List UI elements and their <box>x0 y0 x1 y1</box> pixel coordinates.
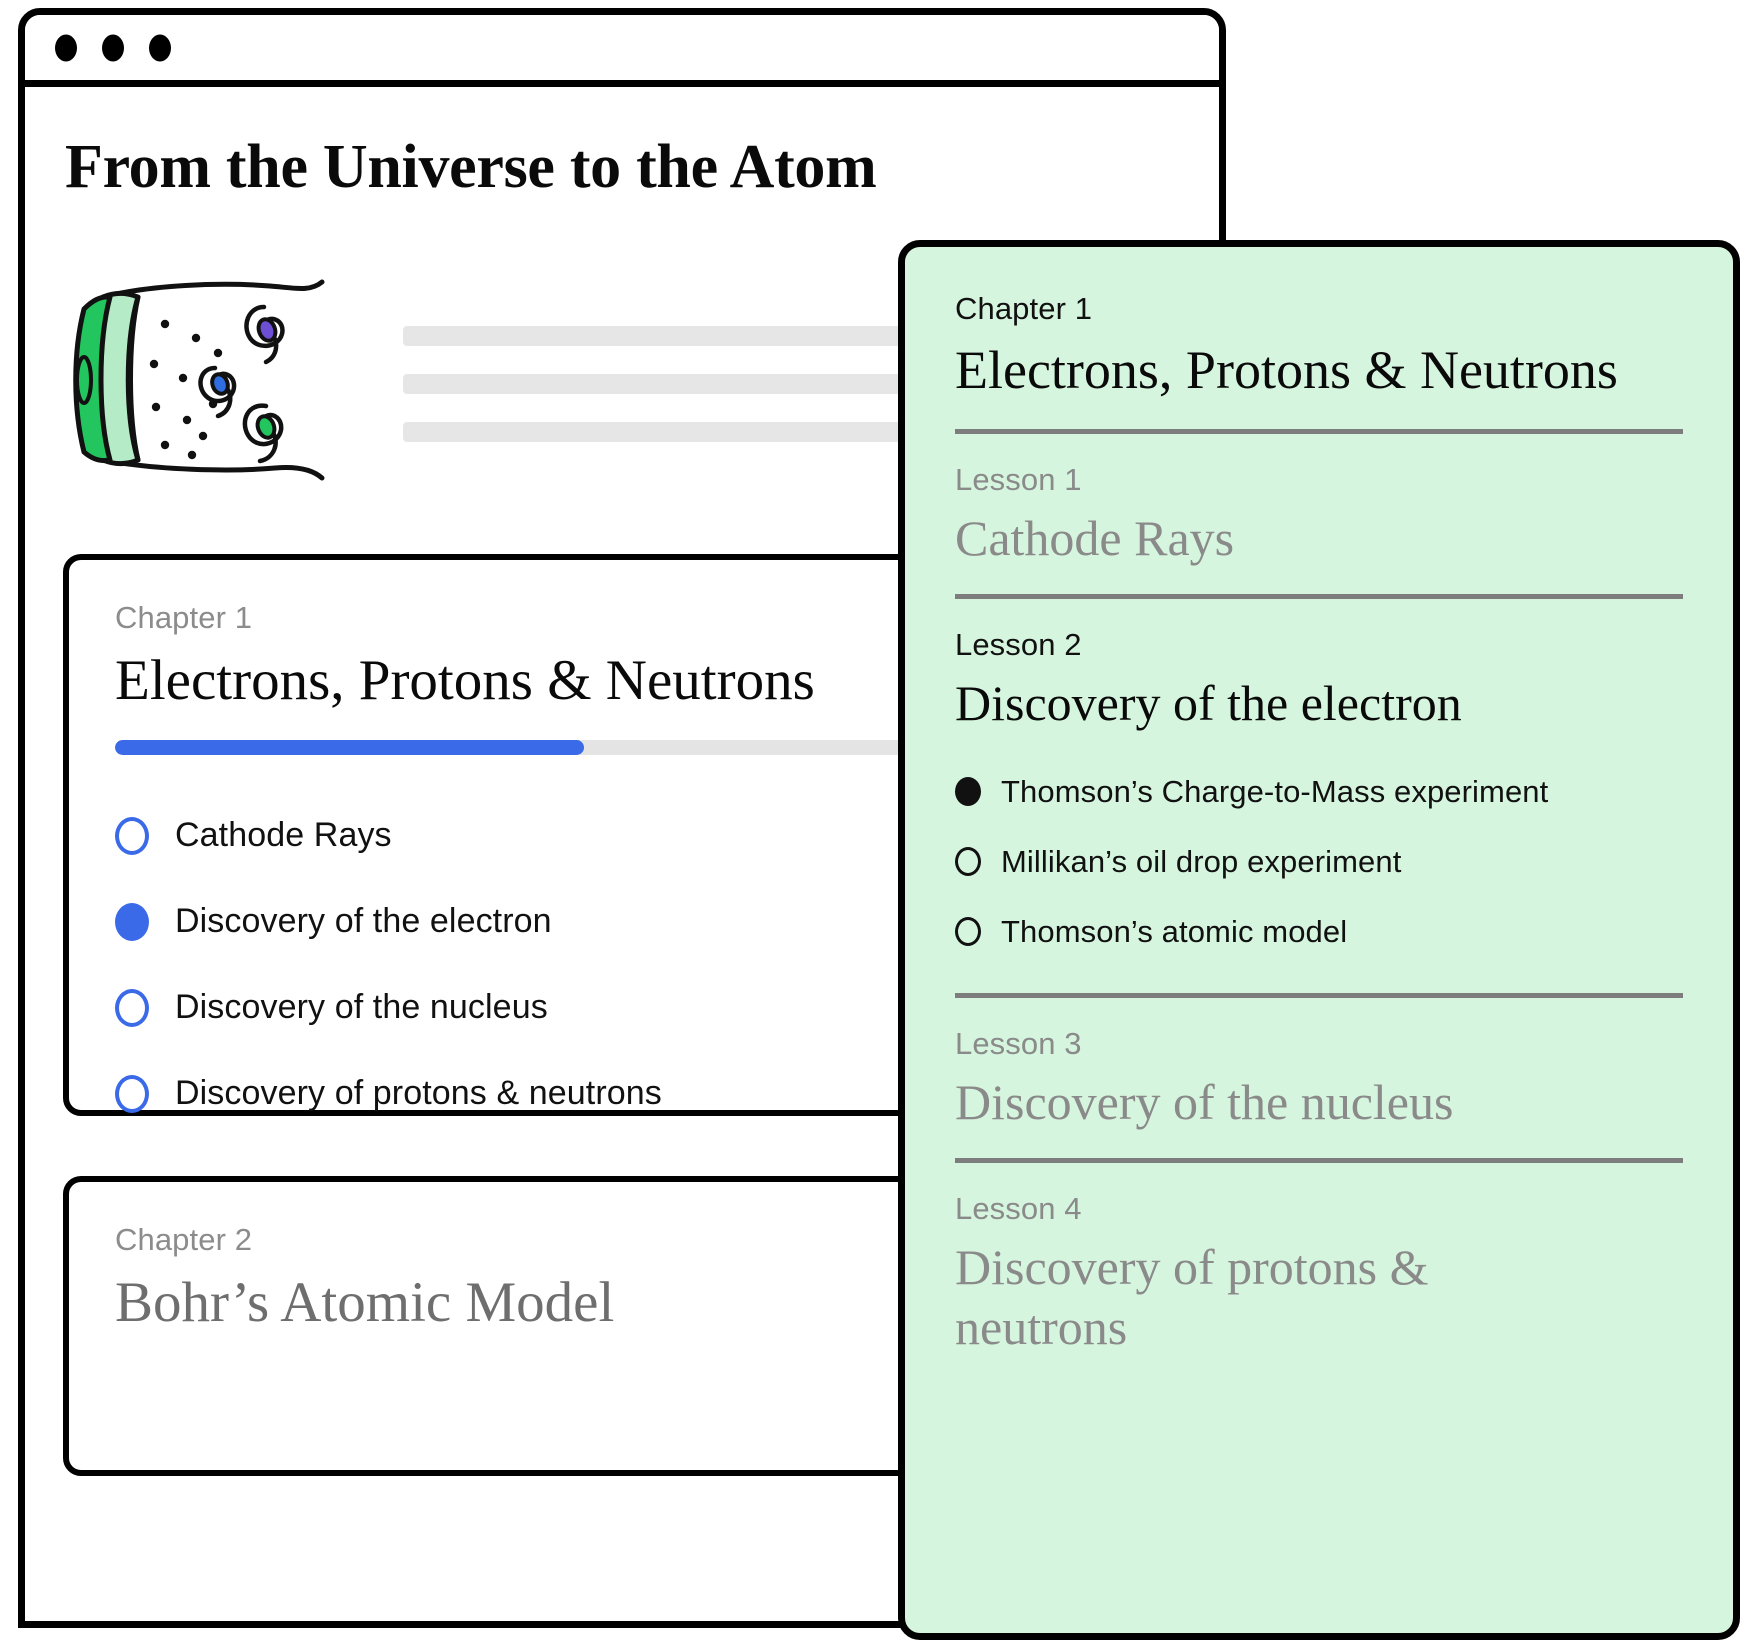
topic-label: Thomson’s atomic model <box>1001 914 1347 950</box>
lesson-radio-icon[interactable] <box>115 817 149 855</box>
lesson-2-name: Discovery of the electron <box>955 673 1683 733</box>
panel-lesson-1[interactable]: Lesson 1 Cathode Rays <box>955 434 1683 568</box>
lesson-label: Cathode Rays <box>175 816 392 855</box>
lesson-1-name: Cathode Rays <box>955 508 1683 568</box>
lesson-1-eyebrow: Lesson 1 <box>955 462 1683 498</box>
topic-row[interactable]: Thomson’s Charge-to-Mass experiment <box>955 757 1683 827</box>
window-controls[interactable] <box>55 34 171 61</box>
panel-lesson-3[interactable]: Lesson 3 Discovery of the nucleus <box>955 998 1683 1132</box>
topic-row[interactable]: Thomson’s atomic model <box>955 897 1683 967</box>
topic-radio-icon[interactable] <box>955 917 981 946</box>
maximize-dot-icon[interactable] <box>149 34 171 61</box>
lesson-label: Discovery of the nucleus <box>175 988 548 1027</box>
topic-label: Millikan’s oil drop experiment <box>1001 844 1401 880</box>
lesson-radio-icon[interactable] <box>115 1075 149 1113</box>
lesson-4-eyebrow: Lesson 4 <box>955 1191 1683 1227</box>
lesson-2-topic-list: Thomson’s Charge-to-Mass experiment Mill… <box>955 757 1683 967</box>
topic-radio-icon[interactable] <box>955 847 981 876</box>
chapter-1-progress-fill <box>115 740 584 755</box>
cathode-ray-tube-illustration <box>70 272 370 492</box>
topic-label: Thomson’s Charge-to-Mass experiment <box>1001 774 1548 810</box>
browser-titlebar <box>25 15 1219 87</box>
lesson-2-eyebrow: Lesson 2 <box>955 627 1683 663</box>
chapter-detail-panel: Chapter 1 Electrons, Protons & Neutrons … <box>898 240 1740 1640</box>
topic-row[interactable]: Millikan’s oil drop experiment <box>955 827 1683 897</box>
lesson-radio-icon[interactable] <box>115 989 149 1027</box>
screenshot-root: From the Universe to the Atom <box>0 0 1755 1650</box>
lesson-3-eyebrow: Lesson 3 <box>955 1026 1683 1062</box>
panel-lesson-4[interactable]: Lesson 4 Discovery of protons & neutrons <box>955 1163 1683 1357</box>
lesson-4-name: Discovery of protons & neutrons <box>955 1237 1495 1357</box>
lesson-label: Discovery of protons & neutrons <box>175 1074 662 1113</box>
lesson-label: Discovery of the electron <box>175 902 552 941</box>
panel-chapter-eyebrow: Chapter 1 <box>955 291 1683 327</box>
minimize-dot-icon[interactable] <box>102 34 124 61</box>
lesson-3-name: Discovery of the nucleus <box>955 1072 1683 1132</box>
panel-chapter-title: Electrons, Protons & Neutrons <box>955 339 1683 403</box>
panel-lesson-2[interactable]: Lesson 2 Discovery of the electron Thoms… <box>955 599 1683 967</box>
topic-radio-icon[interactable] <box>955 777 981 806</box>
close-dot-icon[interactable] <box>55 34 77 61</box>
lesson-radio-icon[interactable] <box>115 903 149 941</box>
page-title: From the Universe to the Atom <box>25 133 1219 202</box>
